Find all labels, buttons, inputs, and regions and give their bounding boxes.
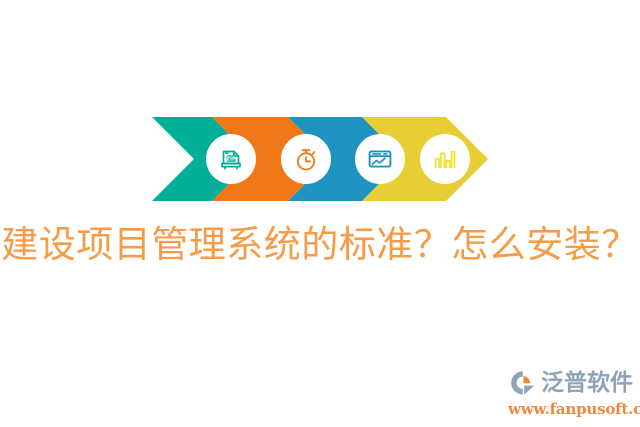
step-4-icon-badge: [420, 134, 470, 184]
promo-banner-canvas: ZIP: [0, 0, 640, 427]
logo-wordmark: 泛普软件: [541, 368, 633, 398]
step-3-icon-badge: [355, 134, 405, 184]
step-2-icon-badge: [281, 134, 331, 184]
bar-chart-icon: [431, 145, 459, 173]
page-title: 建设项目管理系统的标准？怎么安装？: [0, 218, 640, 272]
fanpu-swoosh-logo-icon: [508, 368, 538, 398]
svg-text:ZIP: ZIP: [226, 157, 236, 163]
logo-url: www.fanpusoft.com: [508, 400, 636, 418]
step-1-icon-badge: ZIP: [206, 134, 256, 184]
logo-row: 泛普软件: [508, 366, 636, 400]
browser-chart-icon: [366, 145, 394, 173]
zip-file-icon: ZIP: [217, 145, 245, 173]
brand-logo[interactable]: 泛普软件 www.fanpusoft.com: [508, 366, 636, 420]
stopwatch-icon: [292, 145, 320, 173]
